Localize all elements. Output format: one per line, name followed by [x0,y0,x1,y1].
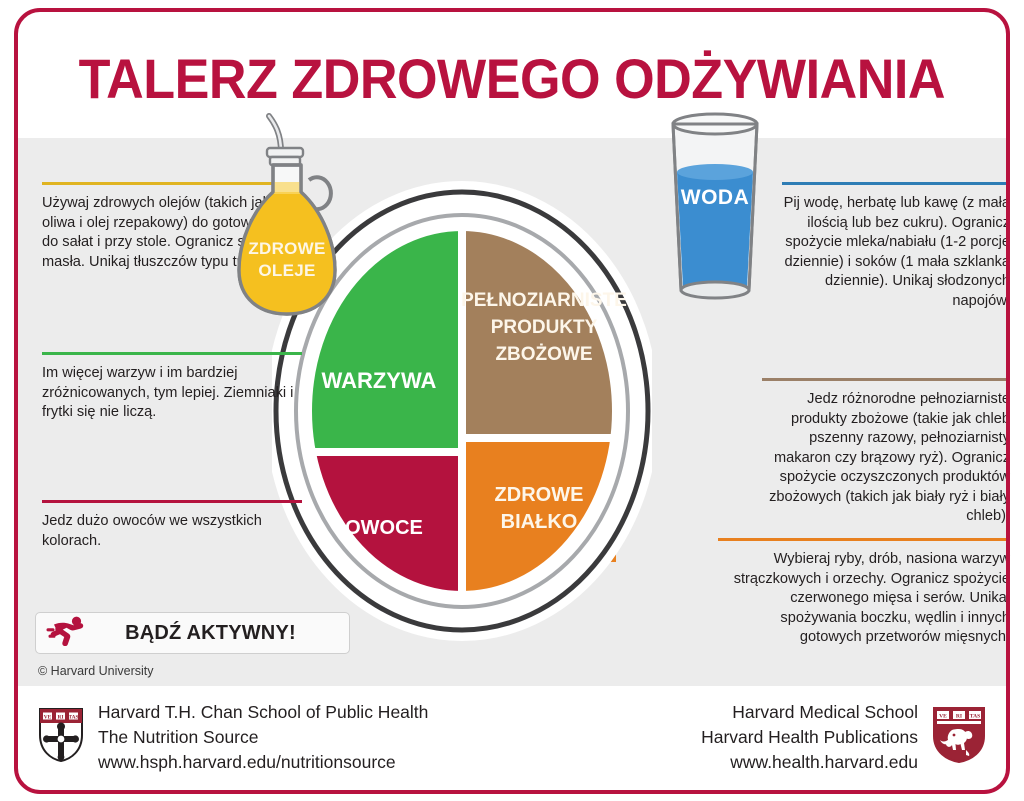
plate-label-grains-2: PRODUKTY [491,317,598,338]
be-active-button[interactable]: BĄDŹ AKTYWNY! [35,612,350,654]
plate-label-grains-3: ZBOŻOWE [495,344,592,365]
footer-left-line1: Harvard T.H. Chan School of Public Healt… [98,700,428,725]
title-bar: TALERZ ZDROWEGO ODŻYWIANIA [18,12,1006,144]
svg-text:RI: RI [956,714,962,720]
plate-label-vegetables: WARZYWA [322,368,437,393]
note-rule-fruits [42,500,302,503]
be-active-label: BĄDŹ AKTYWNY! [98,622,349,645]
note-water: Pij wodę, herbatę lub kawę (z małą ilośc… [782,182,1010,311]
svg-text:TAS: TAS [970,714,980,720]
note-text-fruits: Jedz dużo owoców we wszystkich kolorach. [42,512,302,551]
healthy-eating-plate-poster: TALERZ ZDROWEGO ODŻYWIANIA [0,0,1024,801]
note-rule-vegetables [42,352,302,355]
note-whole-grains: Jedz różnorodne pełnoziarniste produkty … [762,378,1010,527]
note-rule-healthy-protein [718,538,1010,541]
note-text-vegetables: Im więcej warzyw i im bardziej zróżnicow… [42,364,302,423]
footer-right-line2: Harvard Health Publications [701,725,918,750]
footer-harvard-medical: Harvard Medical School Harvard Health Pu… [701,700,986,775]
note-fruits: Jedz dużo owoców we wszystkich kolorach. [42,500,302,551]
note-vegetables: Im więcej warzyw i im bardziej zróżnicow… [42,352,302,423]
note-text-healthy-protein: Wybieraj ryby, drób, nasiona warzyw strą… [718,550,1010,648]
note-rule-whole-grains [762,378,1010,381]
footer-right-text: Harvard Medical School Harvard Health Pu… [701,700,918,775]
running-figure-icon [46,616,92,651]
svg-text:VE: VE [939,714,947,720]
plate-label-protein-2: BIAŁKO [501,511,578,533]
plate-label-protein-1: ZDROWE [495,484,584,506]
note-text-whole-grains: Jedz różnorodne pełnoziarniste produkty … [762,390,1010,527]
footer-left-text: Harvard T.H. Chan School of Public Healt… [98,700,428,775]
plate-label-grains-1: PEŁNOZIARNISTE [461,290,627,311]
note-rule-water [782,182,1010,185]
footer-right-line3[interactable]: www.health.harvard.edu [701,750,918,775]
svg-text:TAS: TAS [68,714,78,720]
svg-text:RI: RI [58,714,64,720]
oil-bottle-icon [229,108,345,320]
water-glass-label: WODA [659,186,771,210]
plate-label-fruits: OWOCE [345,517,423,539]
harvard-chan-shield-icon: VE RI TAS [38,707,84,768]
footer-harvard-chan: VE RI TAS Harvard T.H. Chan School of Pu… [38,700,428,775]
footer-left-line2: The Nutrition Source [98,725,428,750]
oil-label-line2: OLEJE [229,260,345,282]
svg-text:VE: VE [44,714,52,720]
note-healthy-protein: Wybieraj ryby, drób, nasiona warzyw strą… [718,538,1010,648]
footer-right-line1: Harvard Medical School [701,700,918,725]
copyright-text: © Harvard University [38,664,154,678]
page-title: TALERZ ZDROWEGO ODŻYWIANIA [79,46,945,111]
harvard-medical-shield-icon: VE RI TAS [932,706,986,769]
oil-bottle-label: ZDROWE OLEJE [229,238,345,282]
oil-label-line1: ZDROWE [229,238,345,260]
note-text-water: Pij wodę, herbatę lub kawę (z małą ilośc… [782,194,1010,311]
footer-left-line3[interactable]: www.hsph.harvard.edu/nutritionsource [98,750,428,775]
